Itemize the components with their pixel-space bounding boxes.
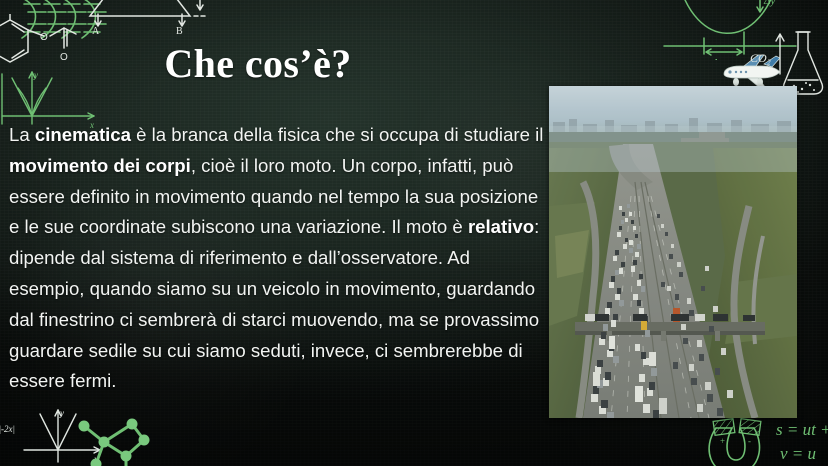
- body-paragraph: La cinematica è la branca della fisica c…: [9, 120, 547, 397]
- body-text-run: è la branca della fisica che si occupa d…: [131, 124, 543, 145]
- highway-traffic-illustration: [549, 86, 797, 418]
- parabola-doodle: Δ x Δy: [660, 0, 800, 60]
- body-text-emphasis: movimento dei corpi: [9, 155, 191, 176]
- kinematics-equation-1: s = ut +: [776, 420, 828, 440]
- svg-text:CO₂: CO₂: [750, 51, 771, 65]
- molecule-network-doodle: [74, 412, 160, 466]
- svg-text:y: y: [59, 408, 64, 418]
- airplane-doodle: [718, 52, 786, 90]
- highway-traffic-photo: [549, 86, 797, 418]
- svg-text:A: A: [92, 26, 100, 37]
- svg-text:x: x: [93, 454, 98, 464]
- page-title: Che cos’è?: [0, 40, 516, 87]
- presentation-slide: OH O O y x |a| A B: [0, 0, 828, 466]
- svg-text:+: +: [720, 436, 725, 446]
- svg-text:Δ x: Δ x: [711, 57, 726, 60]
- abs-function-formula: y = |-2x|: [0, 418, 28, 440]
- svg-text:OH: OH: [6, 14, 21, 15]
- abs-function-graph-doodle: y x: [14, 404, 110, 466]
- svg-text:-: -: [748, 436, 751, 446]
- kinematics-equation-2: v = u: [780, 444, 816, 464]
- trapezoid-physics-doodle: A B: [84, 0, 214, 38]
- magnet-doodle: + -: [700, 418, 780, 466]
- svg-text:y = |-2x|: y = |-2x|: [0, 424, 15, 434]
- body-text-emphasis: cinematica: [35, 124, 131, 145]
- body-text-run: : dipende dal sistema di riferimento e d…: [9, 216, 539, 391]
- body-text-emphasis: relativo: [468, 216, 534, 237]
- svg-text:Δy: Δy: [763, 0, 775, 7]
- svg-text:B: B: [176, 26, 183, 37]
- body-text-run: La: [9, 124, 35, 145]
- co2-label: CO₂: [744, 26, 794, 82]
- dna-helix-doodle: [16, 0, 116, 42]
